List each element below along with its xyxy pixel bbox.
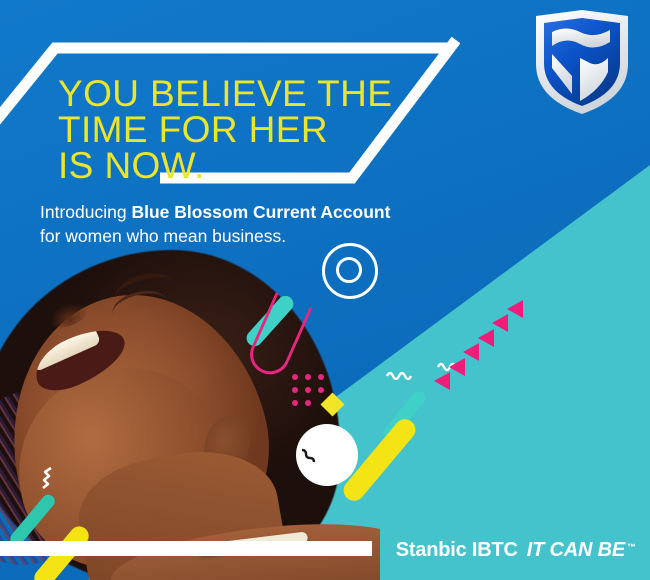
subheading-product-name: Blue Blossom Current Account: [131, 202, 390, 222]
woman-portrait-photo: [0, 240, 380, 580]
headline: YOU BELIEVE THE TIME FOR HER IS NOW.: [58, 76, 392, 184]
pink-dot: [305, 387, 311, 393]
brand-slogan: IT CAN BE: [527, 539, 625, 561]
pink-dot: [305, 400, 311, 406]
concentric-rings-icon: [322, 243, 378, 299]
white-squiggle-decoration: [385, 362, 413, 380]
white-squiggle-decoration: [40, 466, 66, 490]
trademark-symbol: ™: [627, 542, 636, 552]
pink-dot: [305, 374, 311, 380]
brand-name: Stanbic IBTC: [396, 539, 518, 561]
pink-dot: [318, 387, 324, 393]
pink-dot: [292, 387, 298, 393]
pink-dot: [318, 374, 324, 380]
footer-branding: Stanbic IBTCIT CAN BE™: [396, 539, 636, 562]
pink-dot: [292, 374, 298, 380]
stanbic-ibtc-shield-logo: [528, 6, 636, 118]
pink-dot: [292, 400, 298, 406]
subheading: Introducing Blue Blossom Current Account…: [40, 200, 390, 248]
pink-triangle-icon: [507, 300, 523, 318]
subheading-prefix: Introducing: [40, 202, 131, 222]
footer-white-bar: [0, 541, 372, 556]
advertisement-banner: YOU BELIEVE THE TIME FOR HER IS NOW. Int…: [0, 0, 650, 580]
white-squiggle-decoration: [300, 448, 322, 464]
